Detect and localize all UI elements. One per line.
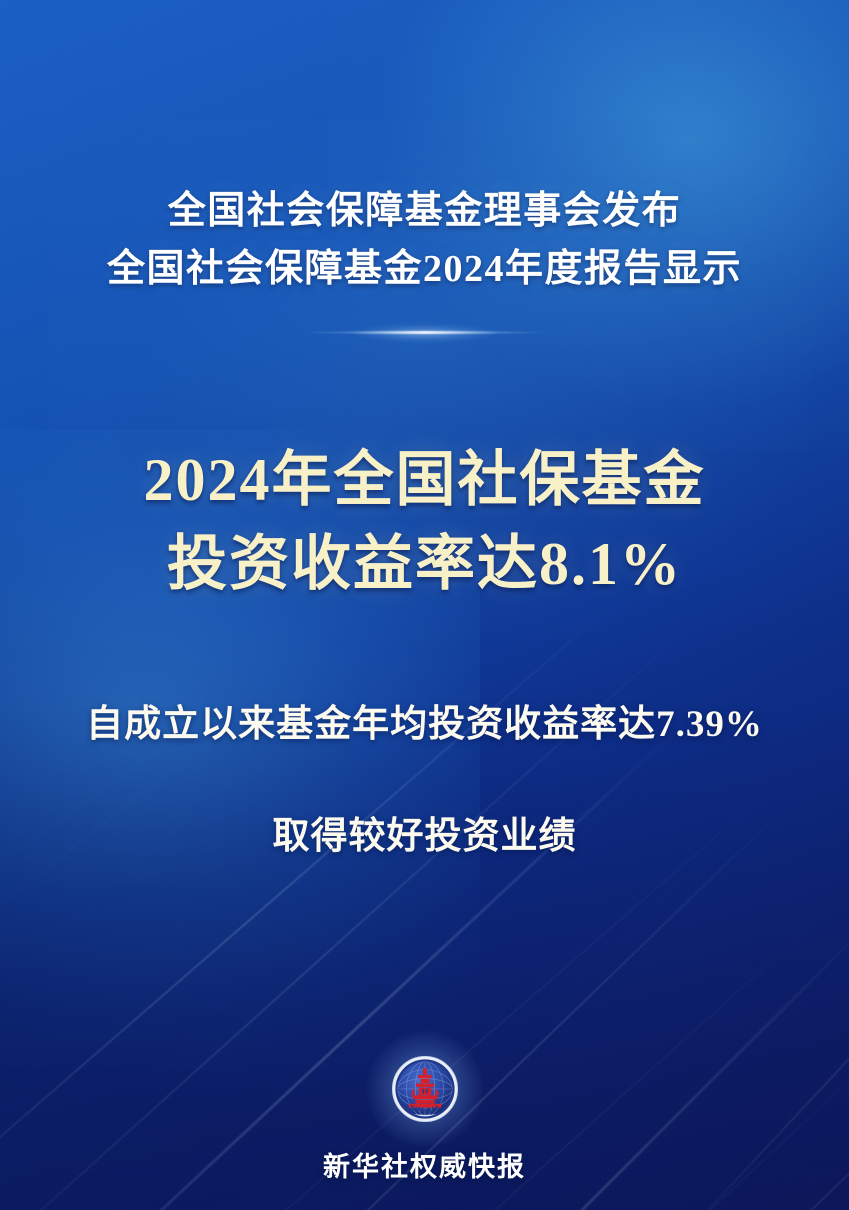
headline-line-1: 2024年全国社保基金: [0, 438, 849, 522]
xinhua-emblem-svg: XINHUA: [388, 1052, 462, 1126]
subtext-line-1: 自成立以来基金年均投资收益率达7.39%: [0, 700, 849, 750]
headline-block: 2024年全国社保基金 投资收益率达8.1%: [0, 438, 849, 606]
subtext-block: 自成立以来基金年均投资收益率达7.39% 取得较好投资业绩: [0, 700, 849, 862]
brand-label: 新华社权威快报: [0, 1145, 849, 1184]
header-line-2: 全国社会保障基金2024年度报告显示: [0, 240, 849, 298]
footer-block: XINHUA 新华社权威快报: [0, 1052, 849, 1184]
news-card-poster: 全国社会保障基金理事会发布 全国社会保障基金2024年度报告显示 2024年全国…: [0, 0, 849, 1210]
header-block: 全国社会保障基金理事会发布 全国社会保障基金2024年度报告显示: [0, 182, 849, 298]
poster-content: 全国社会保障基金理事会发布 全国社会保障基金2024年度报告显示 2024年全国…: [0, 0, 849, 1210]
xinhua-emblem-icon: XINHUA: [388, 1052, 462, 1126]
header-line-1: 全国社会保障基金理事会发布: [0, 182, 849, 240]
flare-halo: [355, 325, 495, 341]
light-flare-divider-icon: [300, 325, 550, 341]
headline-line-2: 投资收益率达8.1%: [0, 522, 849, 606]
flare-core: [300, 331, 550, 334]
subtext-line-2: 取得较好投资业绩: [0, 812, 849, 862]
